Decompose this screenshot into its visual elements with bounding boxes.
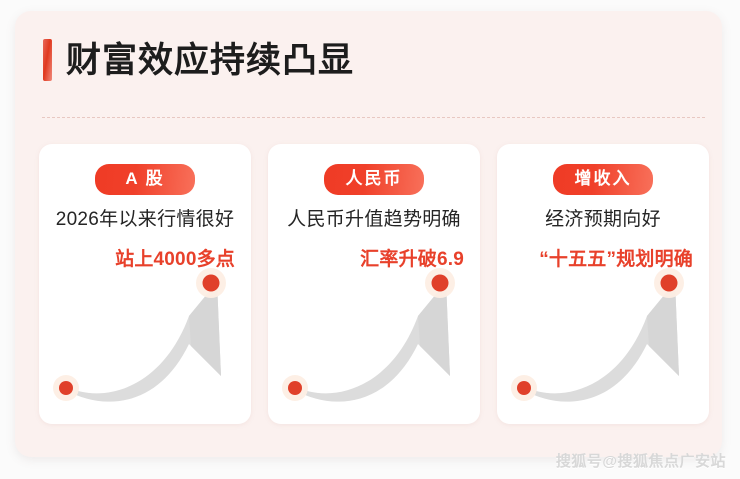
- watermark: 搜狐号@搜狐焦点广安站: [556, 450, 726, 471]
- header-divider: [42, 117, 705, 118]
- card-badge: A 股: [95, 164, 195, 195]
- card-a-shares[interactable]: A 股 2026年以来行情很好 站上4000多点: [39, 144, 251, 424]
- up-arrow-icon: [497, 258, 709, 418]
- title-accent-bar: [43, 39, 52, 81]
- card-badge: 人民币: [324, 164, 424, 195]
- page-title: 财富效应持续凸显: [66, 43, 354, 78]
- content-panel: 财富效应持续凸显 A 股 2026年以来行情很好 站上4000多点: [15, 11, 722, 457]
- screenshot-stage: 财富效应持续凸显 A 股 2026年以来行情很好 站上4000多点: [0, 0, 740, 479]
- card-headline: 2026年以来行情很好: [39, 204, 251, 231]
- card-headline: 经济预期向好: [497, 204, 709, 231]
- up-arrow-icon: [268, 258, 480, 418]
- page-header: 财富效应持续凸显: [43, 39, 354, 81]
- card-rmb[interactable]: 人民币 人民币升值趋势明确 汇率升破6.9: [268, 144, 480, 424]
- card-badge: 增收入: [553, 164, 653, 195]
- card-income[interactable]: 增收入 经济预期向好 “十五五”规划明确: [497, 144, 709, 424]
- card-headline: 人民币升值趋势明确: [268, 204, 480, 231]
- cards-row: A 股 2026年以来行情很好 站上4000多点 人民币: [39, 144, 729, 424]
- up-arrow-icon: [39, 258, 251, 418]
